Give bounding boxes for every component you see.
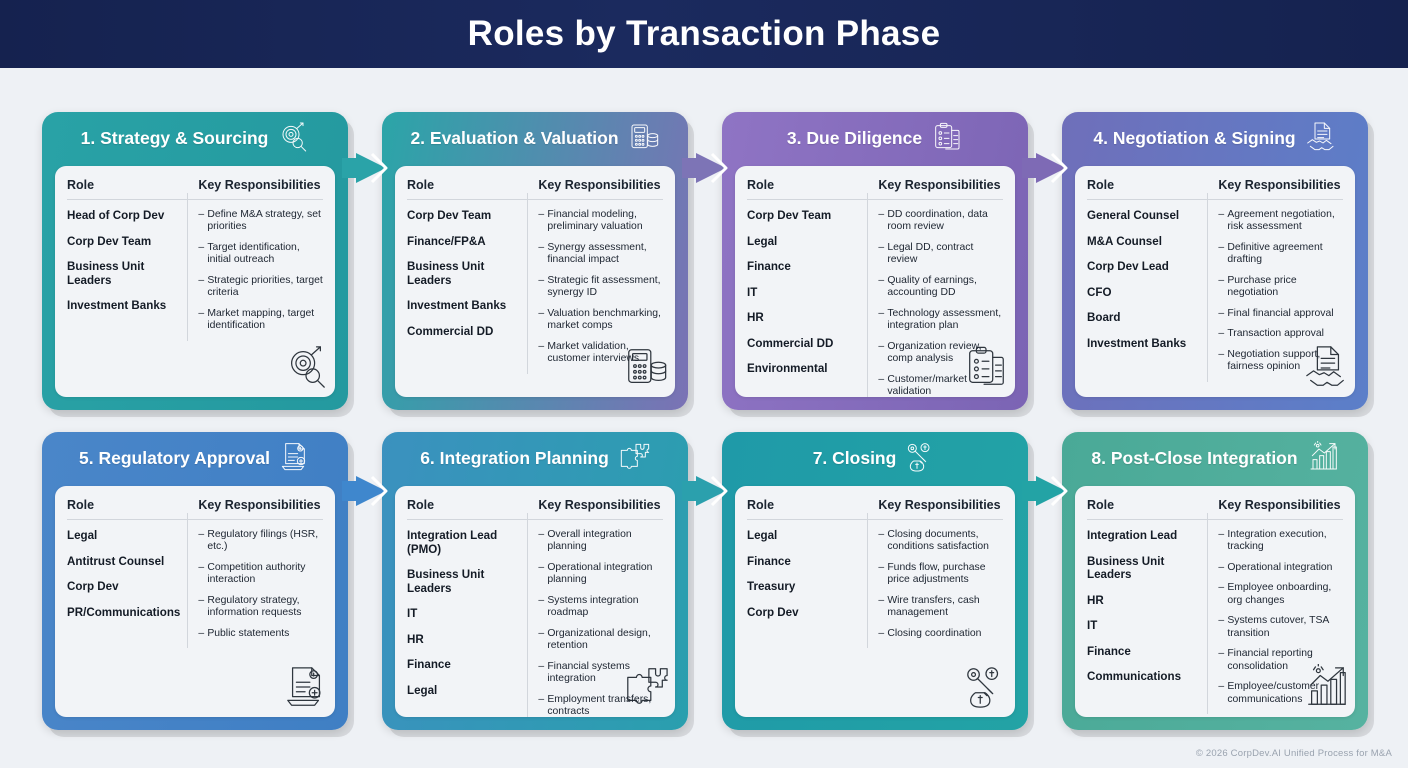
role-item: Corp Dev [67, 580, 179, 594]
column-header-role: Role [67, 498, 187, 512]
responsibility-item: Employee onboarding, org changes [1218, 582, 1343, 607]
role-item: Corp Dev Team [747, 209, 859, 223]
card-title: 1. Strategy & Sourcing [81, 130, 269, 148]
table-body: Integration Lead (PMO)Business Unit Lead… [407, 520, 663, 717]
phase-card-3[interactable]: 3. Due Diligence Role Key Responsibiliti… [722, 112, 1028, 410]
flow-arrow-3 [1022, 150, 1068, 186]
role-item: Environmental [747, 362, 859, 376]
responsibility-item: Legal DD, contract review [878, 242, 1003, 267]
responsibility-item: Market mapping, target identification [198, 308, 323, 333]
roles-column: General CounselM&A CounselCorp Dev LeadC… [1087, 209, 1207, 382]
responsibility-item: Employment transfers, contracts [538, 694, 663, 717]
responsibility-item: Operational integration [1218, 562, 1343, 574]
table-body: Head of Corp DevCorp Dev TeamBusiness Un… [67, 200, 323, 341]
column-header-role: Role [407, 178, 527, 192]
role-item: Business Unit Leaders [407, 568, 519, 595]
roles-table: Role Key Responsibilities Integration Le… [407, 498, 663, 709]
responsibility-item: Closing coordination [878, 628, 1003, 640]
phase-card-5[interactable]: 5. Regulatory Approval Role Key Responsi… [42, 432, 348, 730]
table-header-row: Role Key Responsibilities [747, 178, 1003, 200]
responsibility-item: Financial systems integration [538, 661, 663, 686]
responsibility-item: Financial modeling, preliminary valuatio… [538, 209, 663, 234]
column-header-role: Role [747, 498, 867, 512]
column-divider [527, 513, 528, 717]
table-body: LegalFinanceTreasuryCorp Dev Closing doc… [747, 520, 1003, 648]
column-header-responsibilities: Key Responsibilities [867, 178, 1003, 192]
role-item: Board [1087, 311, 1199, 325]
role-item: Commercial DD [747, 337, 859, 351]
role-item: Finance [747, 260, 859, 274]
role-item: Finance [747, 555, 859, 569]
responsibility-item: Customer/market validation [878, 374, 1003, 397]
phase-card-6[interactable]: 6. Integration Planning Role Key Respons… [382, 432, 688, 730]
calculator-coins-icon [628, 121, 660, 158]
responsibility-item: Synergy assessment, financial impact [538, 242, 663, 267]
column-divider [1207, 193, 1208, 382]
column-divider [187, 513, 188, 648]
flow-arrow-7 [1022, 473, 1068, 509]
column-header-responsibilities: Key Responsibilities [1207, 178, 1343, 192]
column-header-responsibilities: Key Responsibilities [527, 178, 663, 192]
column-header-responsibilities: Key Responsibilities [867, 498, 1003, 512]
responsibilities-column: Define M&A strategy, set prioritiesTarge… [187, 209, 323, 341]
responsibilities-column: Financial modeling, preliminary valuatio… [527, 209, 663, 374]
column-divider [867, 193, 868, 397]
responsibility-item: Define M&A strategy, set priorities [198, 209, 323, 234]
card-header-5: 5. Regulatory Approval [42, 432, 348, 486]
responsibility-item: Regulatory filings (HSR, etc.) [198, 529, 323, 554]
responsibility-item: Strategic fit assessment, synergy ID [538, 275, 663, 300]
responsibility-item: Purchase price negotiation [1218, 275, 1343, 300]
responsibility-item: Closing documents, conditions satisfacti… [878, 529, 1003, 554]
roles-table: Role Key Responsibilities Corp Dev TeamL… [747, 178, 1003, 389]
responsibility-item: Technology assessment, integration plan [878, 308, 1003, 333]
phase-card-1[interactable]: 1. Strategy & Sourcing Role Key Responsi… [42, 112, 348, 410]
role-item: Legal [747, 529, 859, 543]
role-item: PR/Communications [67, 606, 179, 620]
table-body: LegalAntitrust CounselCorp DevPR/Communi… [67, 520, 323, 648]
responsibility-item: Final financial approval [1218, 308, 1343, 320]
responsibility-item: Negotiation support, fairness opinion [1218, 349, 1343, 374]
responsibility-item: Funds flow, purchase price adjustments [878, 562, 1003, 587]
role-item: Corp Dev Lead [1087, 260, 1199, 274]
responsibility-item: Definitive agreement drafting [1218, 242, 1343, 267]
card-header-7: 7. Closing [722, 432, 1028, 486]
card-header-3: 3. Due Diligence [722, 112, 1028, 166]
responsibility-item: Quality of earnings, accounting DD [878, 275, 1003, 300]
table-body: Corp Dev TeamFinance/FP&ABusiness Unit L… [407, 200, 663, 374]
responsibilities-column: DD coordination, data room reviewLegal D… [867, 209, 1003, 397]
column-header-responsibilities: Key Responsibilities [527, 498, 663, 512]
role-item: Business Unit Leaders [67, 260, 179, 287]
role-item: Legal [67, 529, 179, 543]
role-item: Legal [747, 235, 859, 249]
responsibility-item: Systems cutover, TSA transition [1218, 615, 1343, 640]
phase-card-8[interactable]: 8. Post-Close Integration Role Key Respo… [1062, 432, 1368, 730]
responsibility-item: Public statements [198, 628, 323, 640]
column-header-responsibilities: Key Responsibilities [187, 498, 323, 512]
column-header-role: Role [407, 498, 527, 512]
responsibility-item: Market validation, customer interviews [538, 341, 663, 366]
page-header: Roles by Transaction Phase [0, 0, 1408, 68]
role-item: Finance [1087, 645, 1199, 659]
role-item: Business Unit Leaders [407, 260, 519, 287]
column-header-responsibilities: Key Responsibilities [1207, 498, 1343, 512]
responsibility-item: Agreement negotiation, risk assessment [1218, 209, 1343, 234]
roles-column: Head of Corp DevCorp Dev TeamBusiness Un… [67, 209, 187, 341]
card-body-5: Role Key Responsibilities LegalAntitrust… [55, 486, 335, 717]
role-item: Communications [1087, 670, 1199, 684]
card-title: 4. Negotiation & Signing [1093, 130, 1295, 148]
card-body-8: Role Key Responsibilities Integration Le… [1075, 486, 1355, 717]
card-body-3: Role Key Responsibilities Corp Dev TeamL… [735, 166, 1015, 397]
role-item: IT [747, 286, 859, 300]
table-header-row: Role Key Responsibilities [407, 498, 663, 520]
role-item: HR [1087, 594, 1199, 608]
card-title: 3. Due Diligence [787, 130, 922, 148]
responsibility-item: Wire transfers, cash management [878, 595, 1003, 620]
responsibility-item: Organization review, comp analysis [878, 341, 1003, 366]
role-item: Integration Lead [1087, 529, 1199, 543]
role-item: Business Unit Leaders [1087, 555, 1199, 582]
phase-card-grid: 1. Strategy & Sourcing Role Key Responsi… [42, 112, 1372, 730]
column-divider [187, 193, 188, 341]
column-divider [527, 193, 528, 374]
role-item: Antitrust Counsel [67, 555, 179, 569]
responsibilities-column: Agreement negotiation, risk assessmentDe… [1207, 209, 1343, 382]
role-item: Finance [407, 658, 519, 672]
column-header-role: Role [747, 178, 867, 192]
role-item: Legal [407, 684, 519, 698]
key-moneybag-icon [905, 441, 937, 478]
column-header-role: Role [67, 178, 187, 192]
roles-table: Role Key Responsibilities Corp Dev TeamF… [407, 178, 663, 389]
phase-card-7[interactable]: 7. Closing Role Key Responsibilities Leg… [722, 432, 1028, 730]
responsibility-item: Target identification, initial outreach [198, 242, 323, 267]
clipboard-checklist-icon [931, 121, 963, 158]
role-item: Corp Dev Team [67, 235, 179, 249]
responsibility-item: Regulatory strategy, information request… [198, 595, 323, 620]
role-item: M&A Counsel [1087, 235, 1199, 249]
card-body-7: Role Key Responsibilities LegalFinanceTr… [735, 486, 1015, 717]
column-divider [1207, 513, 1208, 714]
role-item: Investment Banks [67, 299, 179, 313]
role-item: General Counsel [1087, 209, 1199, 223]
responsibility-item: Organizational design, retention [538, 628, 663, 653]
roles-column: Corp Dev TeamLegalFinanceITHRCommercial … [747, 209, 867, 397]
role-item: Integration Lead (PMO) [407, 529, 519, 556]
table-header-row: Role Key Responsibilities [747, 498, 1003, 520]
table-header-row: Role Key Responsibilities [67, 498, 323, 520]
roles-column: Corp Dev TeamFinance/FP&ABusiness Unit L… [407, 209, 527, 374]
responsibilities-column: Integration execution, trackingOperation… [1207, 529, 1343, 714]
role-item: IT [407, 607, 519, 621]
card-header-1: 1. Strategy & Sourcing [42, 112, 348, 166]
table-body: Corp Dev TeamLegalFinanceITHRCommercial … [747, 200, 1003, 397]
infographic-page: Roles by Transaction Phase 1. Strategy &… [0, 0, 1408, 768]
role-item: HR [407, 633, 519, 647]
role-item: HR [747, 311, 859, 325]
responsibility-item: Transaction approval [1218, 328, 1343, 340]
roles-table: Role Key Responsibilities General Counse… [1087, 178, 1343, 389]
card-header-2: 2. Evaluation & Valuation [382, 112, 688, 166]
responsibility-item: Systems integration roadmap [538, 595, 663, 620]
target-magnifier-icon [277, 121, 309, 158]
responsibilities-column: Regulatory filings (HSR, etc.)Competitio… [187, 529, 323, 648]
role-item: Investment Banks [1087, 337, 1199, 351]
table-header-row: Role Key Responsibilities [1087, 498, 1343, 520]
responsibility-item: Overall integration planning [538, 529, 663, 554]
card-title: 6. Integration Planning [420, 450, 609, 468]
column-header-role: Role [1087, 498, 1207, 512]
card-body-2: Role Key Responsibilities Corp Dev TeamF… [395, 166, 675, 397]
responsibility-item: Employee/customer communications [1218, 681, 1343, 706]
table-header-row: Role Key Responsibilities [67, 178, 323, 200]
puzzle-pieces-icon [618, 441, 650, 478]
roles-table: Role Key Responsibilities LegalAntitrust… [67, 498, 323, 709]
roles-table: Role Key Responsibilities LegalFinanceTr… [747, 498, 1003, 709]
role-item: Corp Dev Team [407, 209, 519, 223]
card-body-6: Role Key Responsibilities Integration Le… [395, 486, 675, 717]
table-body: Integration LeadBusiness Unit LeadersHRI… [1087, 520, 1343, 714]
flow-arrow-6 [682, 473, 728, 509]
responsibility-item: Competition authority interaction [198, 562, 323, 587]
growth-chart-icon [1307, 441, 1339, 478]
roles-column: Integration Lead (PMO)Business Unit Lead… [407, 529, 527, 717]
table-header-row: Role Key Responsibilities [407, 178, 663, 200]
flow-arrow-2 [682, 150, 728, 186]
role-item: IT [1087, 619, 1199, 633]
role-item: Commercial DD [407, 325, 519, 339]
card-header-8: 8. Post-Close Integration [1062, 432, 1368, 486]
flow-arrow-1 [342, 150, 388, 186]
roles-column: LegalAntitrust CounselCorp DevPR/Communi… [67, 529, 187, 648]
regulatory-document-icon [279, 441, 311, 478]
role-item: CFO [1087, 286, 1199, 300]
card-body-4: Role Key Responsibilities General Counse… [1075, 166, 1355, 397]
column-divider [867, 513, 868, 648]
responsibilities-column: Closing documents, conditions satisfacti… [867, 529, 1003, 648]
phase-card-4[interactable]: 4. Negotiation & Signing Role Key Respon… [1062, 112, 1368, 410]
roles-table: Role Key Responsibilities Integration Le… [1087, 498, 1343, 709]
responsibility-item: Integration execution, tracking [1218, 529, 1343, 554]
roles-column: LegalFinanceTreasuryCorp Dev [747, 529, 867, 648]
card-title: 2. Evaluation & Valuation [410, 130, 618, 148]
handshake-document-icon [1305, 121, 1337, 158]
responsibility-item: Strategic priorities, target criteria [198, 275, 323, 300]
responsibilities-column: Overall integration planningOperational … [527, 529, 663, 717]
page-title: Roles by Transaction Phase [468, 14, 941, 54]
table-body: General CounselM&A CounselCorp Dev LeadC… [1087, 200, 1343, 382]
flow-arrow-5 [342, 473, 388, 509]
footer-copyright: © 2026 CorpDev.AI Unified Process for M&… [1196, 748, 1392, 759]
column-header-role: Role [1087, 178, 1207, 192]
role-item: Treasury [747, 580, 859, 594]
role-item: Investment Banks [407, 299, 519, 313]
card-header-6: 6. Integration Planning [382, 432, 688, 486]
column-header-responsibilities: Key Responsibilities [187, 178, 323, 192]
card-header-4: 4. Negotiation & Signing [1062, 112, 1368, 166]
role-item: Finance/FP&A [407, 235, 519, 249]
responsibility-item: DD coordination, data room review [878, 209, 1003, 234]
responsibility-item: Financial reporting consolidation [1218, 648, 1343, 673]
table-header-row: Role Key Responsibilities [1087, 178, 1343, 200]
roles-column: Integration LeadBusiness Unit LeadersHRI… [1087, 529, 1207, 714]
card-body-1: Role Key Responsibilities Head of Corp D… [55, 166, 335, 397]
role-item: Corp Dev [747, 606, 859, 620]
phase-card-2[interactable]: 2. Evaluation & Valuation Role Key Respo… [382, 112, 688, 410]
responsibility-item: Valuation benchmarking, market comps [538, 308, 663, 333]
card-title: 7. Closing [813, 450, 897, 468]
roles-table: Role Key Responsibilities Head of Corp D… [67, 178, 323, 389]
responsibility-item: Operational integration planning [538, 562, 663, 587]
card-title: 5. Regulatory Approval [79, 450, 270, 468]
card-title: 8. Post-Close Integration [1091, 450, 1297, 468]
role-item: Head of Corp Dev [67, 209, 179, 223]
